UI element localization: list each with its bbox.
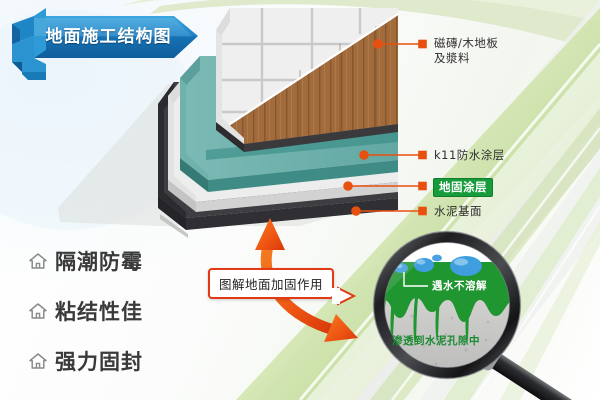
magnifier-caption-penetrates-pores: 渗透到水泥孔隙中 [392,333,480,348]
feature-list: 隔潮防霉 粘结性佳 强力固封 [28,246,218,396]
feature-label: 粘结性佳 [55,296,143,326]
feature-item-1: 粘结性佳 [28,296,218,326]
infographic-canvas: 地面施工结构图 磁磚/木地板 及漿料 k11防水涂层 地固涂层 水泥基面 [0,0,600,400]
house-icon [28,251,48,271]
feature-item-2: 强力固封 [28,346,218,376]
magnifier-caption-water-insoluble: 遇水不溶解 [432,278,487,293]
feature-label: 隔潮防霉 [55,246,143,276]
feature-label: 强力固封 [55,346,143,376]
house-icon [28,301,48,321]
feature-item-0: 隔潮防霉 [28,246,218,276]
house-icon [28,351,48,371]
